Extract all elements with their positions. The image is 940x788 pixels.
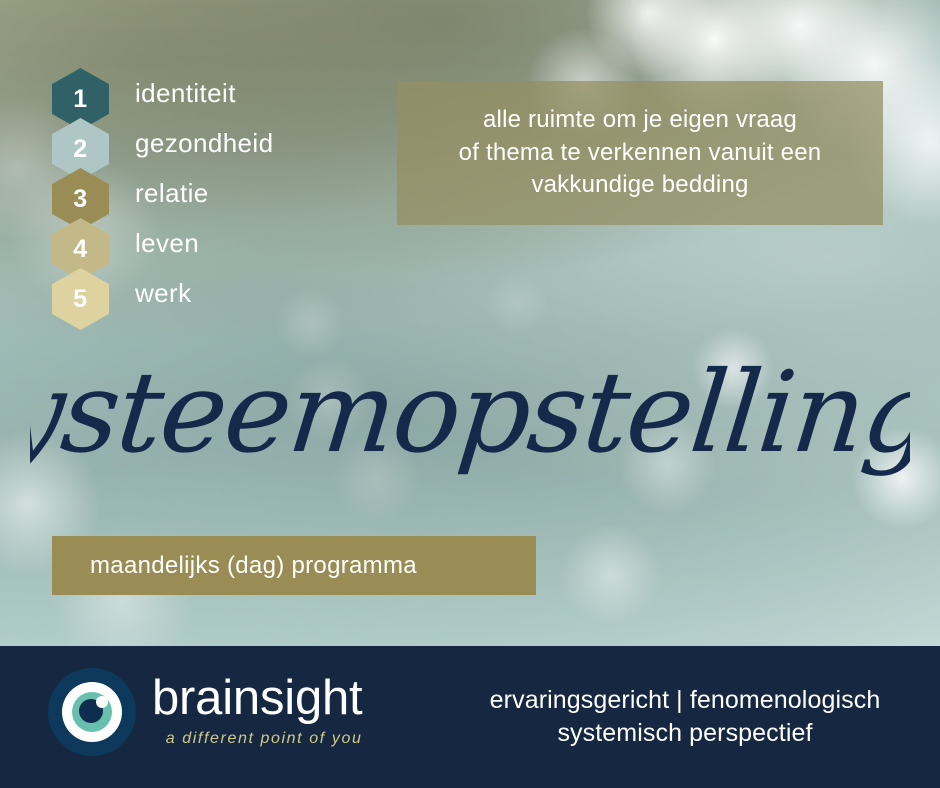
quote-text: alle ruimte om je eigen vraag of thema t… xyxy=(447,104,834,203)
headline-script-label: systeemopstellingen xyxy=(30,348,910,478)
quote-box: alle ruimte om je eigen vraag of thema t… xyxy=(397,81,883,225)
hexagon-number: 3 xyxy=(73,187,87,212)
hexagon-number: 5 xyxy=(73,287,87,312)
quote-line-1: alle ruimte om je eigen vraag xyxy=(459,104,822,137)
quote-line-3: vakkundige bedding xyxy=(459,169,822,202)
step-label-gezondheid: gezondheid xyxy=(135,130,273,156)
footer-bar: brainsight a different point of you erva… xyxy=(0,646,940,788)
program-banner-label: maandelijks (dag) programma xyxy=(52,554,417,578)
brand-wordmark: brainsight a different point of you xyxy=(152,668,362,748)
program-banner: maandelijks (dag) programma xyxy=(52,536,536,595)
hexagon-number: 2 xyxy=(73,137,87,162)
hexagon-number: 1 xyxy=(73,87,87,112)
poster-canvas: 1 identiteit 2 gezondheid 3 relatie 4 le… xyxy=(0,0,940,788)
quote-line-2: of thema te verkennen vanuit een xyxy=(459,137,822,170)
hexagon-number: 4 xyxy=(73,237,87,262)
brand-tagline: a different point of you xyxy=(152,730,362,748)
step-label-werk: werk xyxy=(135,280,192,306)
headline-script-svg: systeemopstellingen xyxy=(30,323,910,513)
footer-claim-line-2: systemisch perspectief xyxy=(557,717,812,750)
step-label-leven: leven xyxy=(135,230,199,256)
step-label-relatie: relatie xyxy=(135,180,209,206)
footer-claim-line-1: ervaringsgericht | fenomenologisch xyxy=(490,684,881,717)
headline-script: systeemopstellingen xyxy=(0,318,940,518)
eye-highlight-shape xyxy=(96,696,108,708)
step-label-identiteit: identiteit xyxy=(135,80,236,106)
brand-logo[interactable]: brainsight a different point of you xyxy=(48,668,362,756)
brand-name: brainsight xyxy=(152,674,362,723)
eye-logo-icon xyxy=(48,668,136,756)
footer-claims: ervaringsgericht | fenomenologisch syste… xyxy=(430,646,940,788)
